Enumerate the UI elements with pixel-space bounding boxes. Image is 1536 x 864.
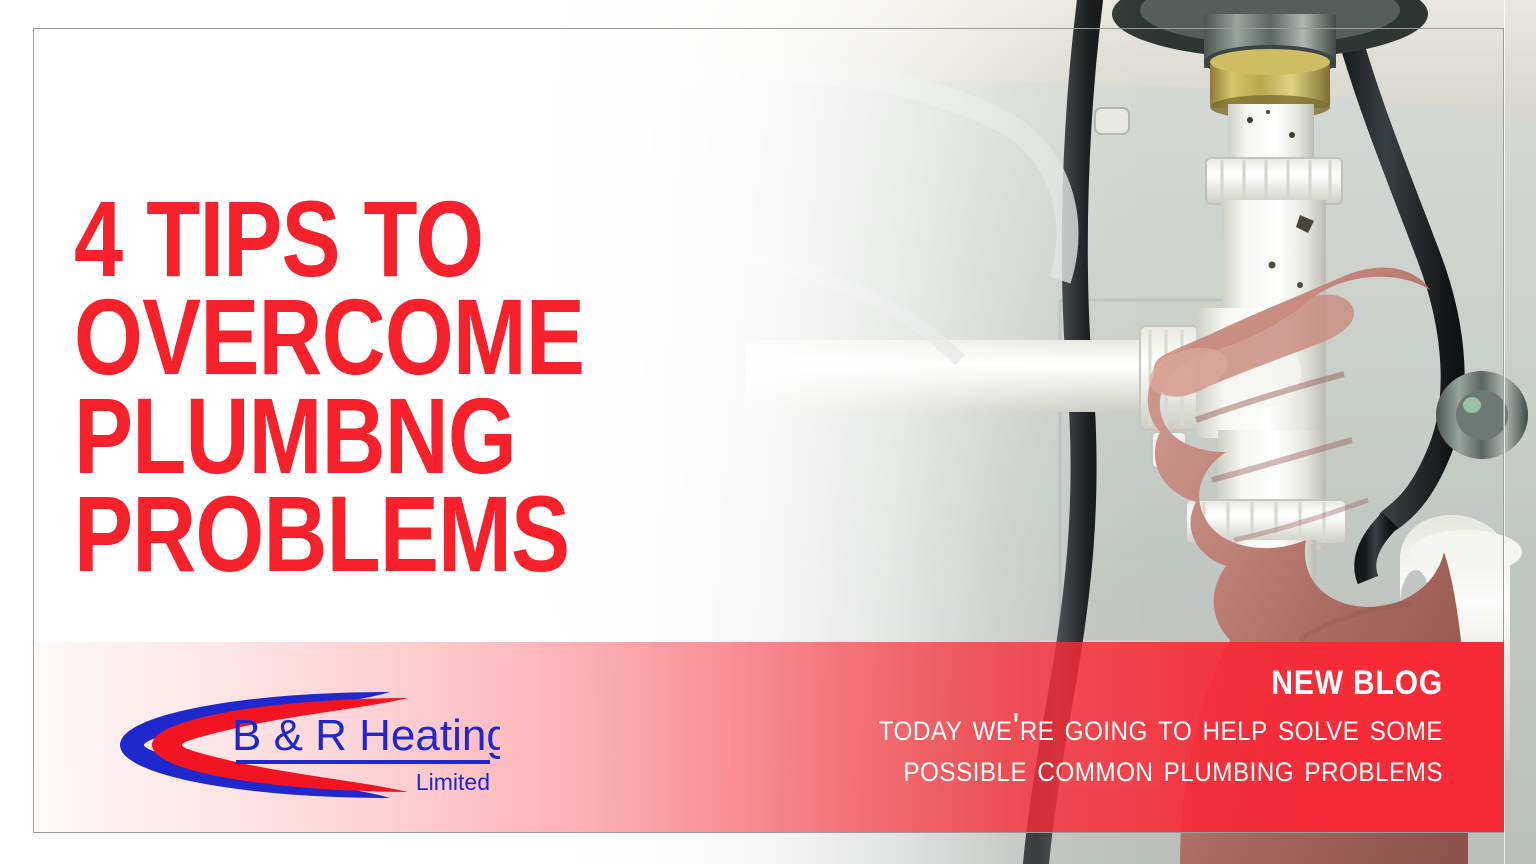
page-title: 4 TIPS TO OVERCOME PLUMBNG PROBLEMS bbox=[74, 190, 697, 583]
brand-logo[interactable]: B & R Heating Limited bbox=[90, 690, 500, 800]
banner-text-block: NEW BLOG Today we're going to help solve… bbox=[723, 666, 1443, 789]
banner-tagline: Today we're going to help solve some pos… bbox=[795, 707, 1443, 790]
logo-suffix: Limited bbox=[416, 769, 490, 795]
banner-canvas: 4 TIPS TO OVERCOME PLUMBNG PROBLEMS B & … bbox=[0, 0, 1536, 864]
banner-kicker: NEW BLOG bbox=[809, 666, 1443, 702]
logo-wordmark: B & R Heating bbox=[232, 711, 500, 760]
